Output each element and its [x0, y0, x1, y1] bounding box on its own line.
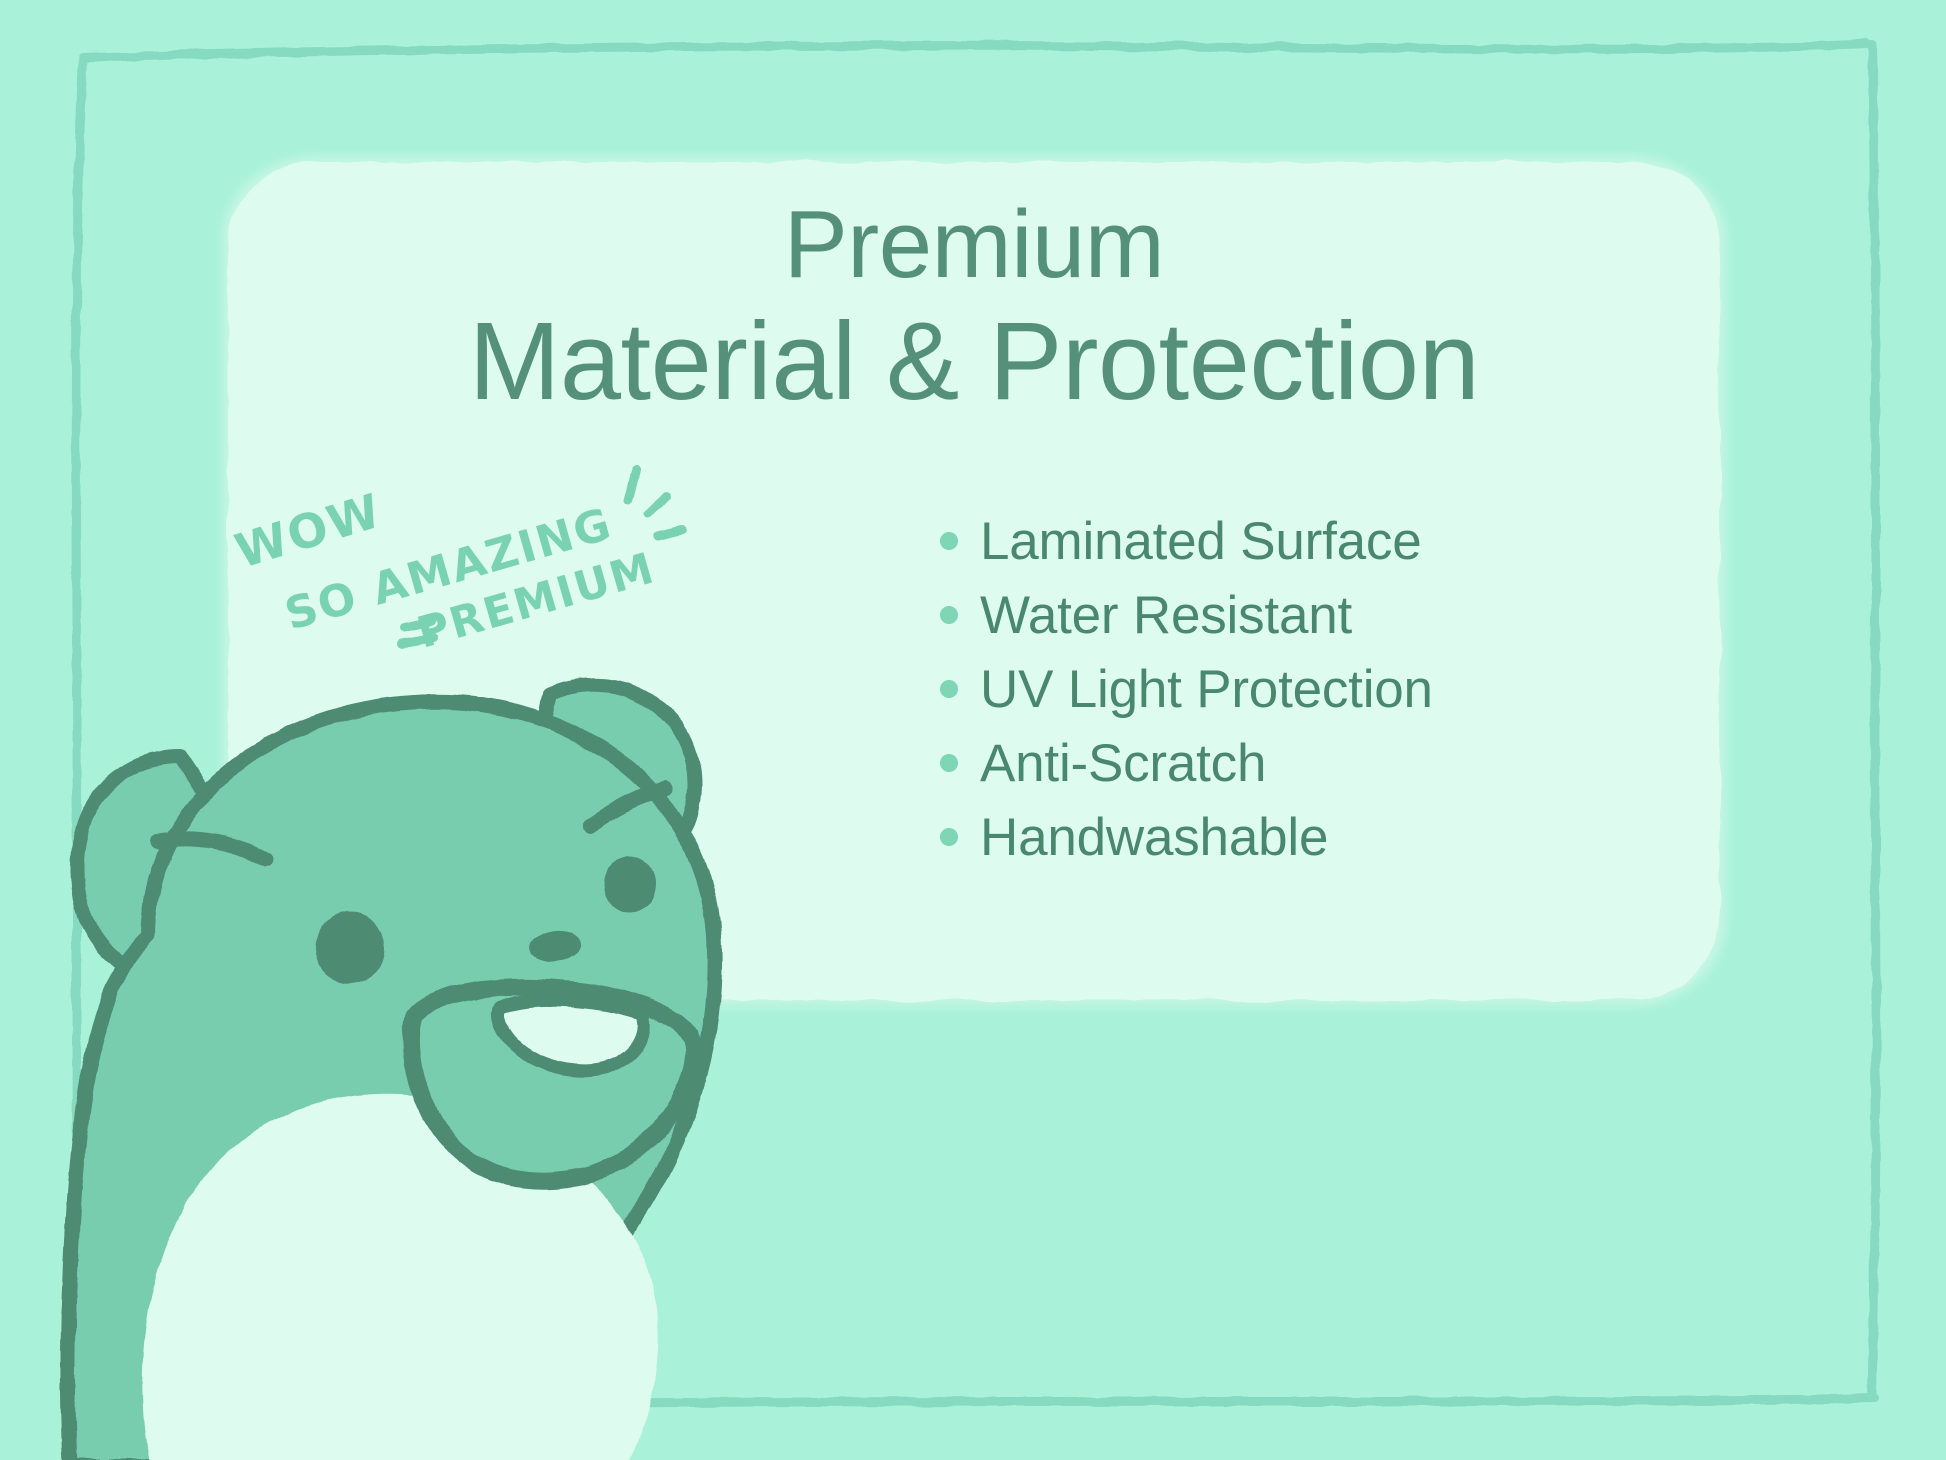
bullet-dot-icon [940, 680, 958, 698]
feature-list: Laminated Surface Water Resistant UV Lig… [940, 510, 1700, 880]
bullet-dot-icon [940, 532, 958, 550]
bullet-dot-icon [940, 754, 958, 772]
feature-label: Water Resistant [980, 585, 1352, 646]
feature-label: Anti-Scratch [980, 733, 1266, 794]
bullet-dot-icon [940, 606, 958, 624]
title-line-1: Premium [228, 196, 1720, 294]
bullet-dot-icon [940, 828, 958, 846]
list-item: Water Resistant [940, 584, 1700, 646]
page-title: Premium Material & Protection [228, 196, 1720, 418]
feature-label: Handwashable [980, 807, 1328, 868]
bear-mascot-illustration [30, 636, 810, 1460]
title-line-2: Material & Protection [228, 306, 1720, 418]
poster-canvas: Premium Material & Protection WOW SO AMA… [0, 0, 1946, 1460]
list-item: Laminated Surface [940, 510, 1700, 572]
feature-label: UV Light Protection [980, 659, 1433, 720]
list-item: Handwashable [940, 806, 1700, 868]
list-item: UV Light Protection [940, 658, 1700, 720]
list-item: Anti-Scratch [940, 732, 1700, 794]
feature-label: Laminated Surface [980, 511, 1421, 572]
